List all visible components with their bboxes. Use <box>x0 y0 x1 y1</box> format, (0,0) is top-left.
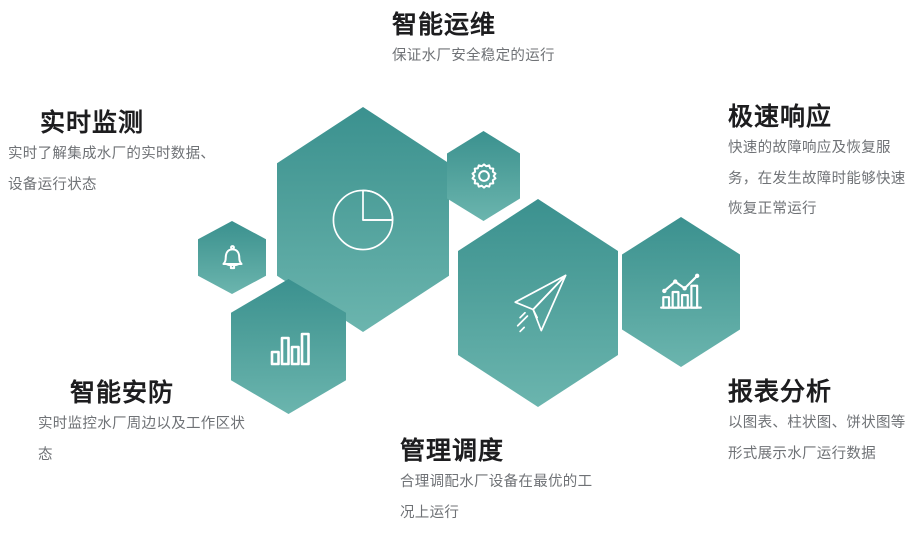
bar-chart-icon <box>265 323 313 371</box>
bell-icon <box>217 242 248 273</box>
hexagon-paper-plane[interactable] <box>458 199 618 407</box>
feature-title-ops: 智能运维 <box>370 10 590 41</box>
feature-desc-response: 快速的故障响应及恢复服务，在发生故障时能够快速恢复正常运行 <box>728 133 911 224</box>
feature-title-response: 极速响应 <box>728 102 911 133</box>
feature-desc-report: 以图表、柱状图、饼状图等形式展示水厂运行数据 <box>728 408 911 469</box>
hexagon-gear[interactable] <box>447 131 520 221</box>
feature-block-monitor: 实时监测 实时了解集成水厂的实时数据、设备运行状态 <box>8 108 223 200</box>
hexagon-bell[interactable] <box>198 221 266 294</box>
feature-block-report: 报表分析 以图表、柱状图、饼状图等形式展示水厂运行数据 <box>728 377 911 469</box>
feature-desc-dispatch: 合理调配水厂设备在最优的工况上运行 <box>378 467 598 528</box>
feature-title-dispatch: 管理调度 <box>378 436 598 467</box>
hexagon-analytics[interactable] <box>622 217 740 367</box>
feature-desc-monitor: 实时了解集成水厂的实时数据、设备运行状态 <box>8 139 223 200</box>
feature-block-security: 智能安防 实时监控水厂周边以及工作区状态 <box>38 378 253 470</box>
paper-plane-icon <box>499 264 577 342</box>
feature-desc-ops: 保证水厂安全稳定的运行 <box>370 41 590 71</box>
feature-block-response: 极速响应 快速的故障响应及恢复服务，在发生故障时能够快速恢复正常运行 <box>728 102 911 225</box>
feature-title-security: 智能安防 <box>38 378 253 409</box>
infographic-canvas: 实时监测 实时了解集成水厂的实时数据、设备运行状态 智能运维 保证水厂安全稳定的… <box>0 0 911 553</box>
gear-icon <box>466 158 502 194</box>
feature-desc-security: 实时监控水厂周边以及工作区状态 <box>38 409 253 470</box>
feature-block-dispatch: 管理调度 合理调配水厂设备在最优的工况上运行 <box>378 436 598 528</box>
feature-block-ops: 智能运维 保证水厂安全稳定的运行 <box>370 10 590 72</box>
pie-chart-icon <box>320 177 406 263</box>
feature-title-monitor: 实时监测 <box>8 108 223 139</box>
feature-title-report: 报表分析 <box>728 377 911 408</box>
analytics-icon <box>656 267 706 317</box>
